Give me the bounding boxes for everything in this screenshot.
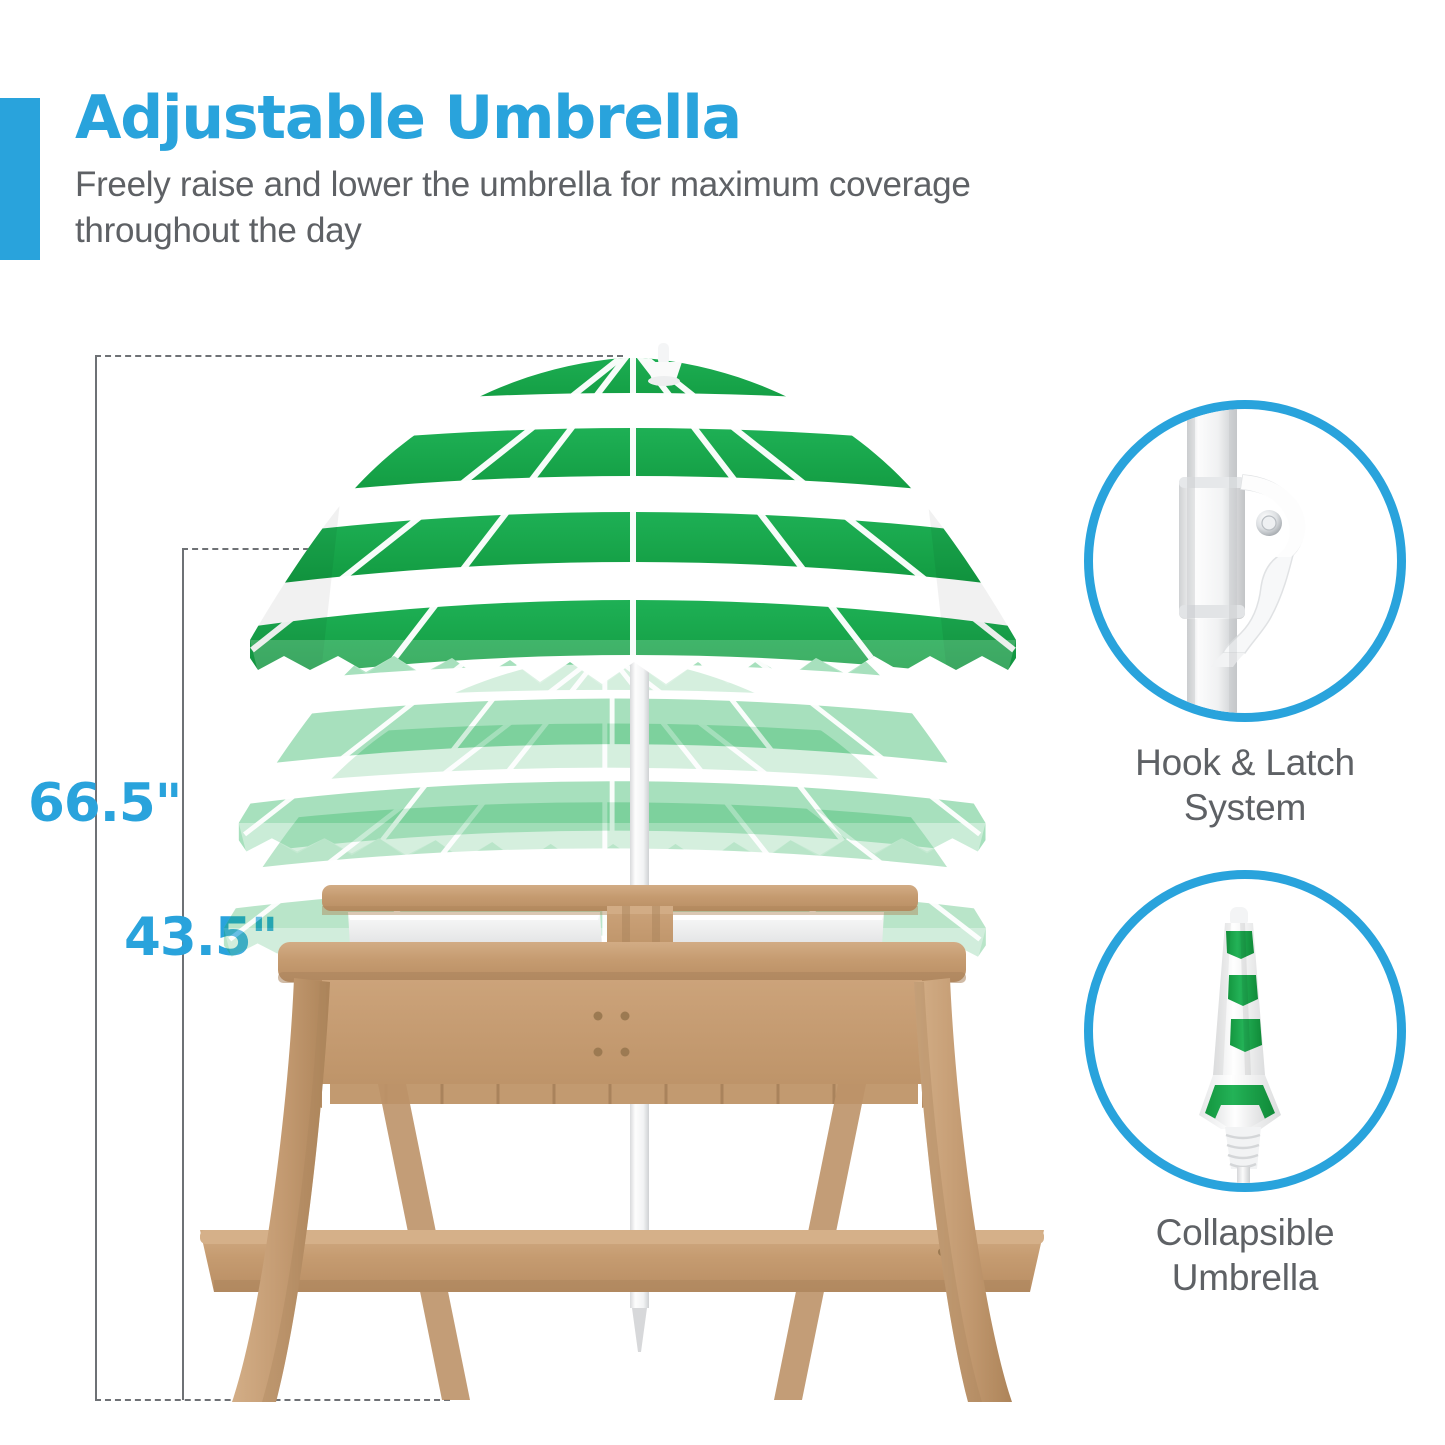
table-slat-row bbox=[330, 1084, 918, 1104]
product-illustration bbox=[170, 340, 1050, 1405]
table-top-board bbox=[278, 942, 966, 983]
page-title: Adjustable Umbrella bbox=[75, 88, 975, 148]
callout-collapsible-umbrella-label-line2: Umbrella bbox=[1070, 1255, 1420, 1300]
umbrella-tie-wrap bbox=[1225, 1127, 1261, 1169]
page-subtitle: Freely raise and lower the umbrella for … bbox=[75, 162, 975, 253]
closed-umbrella-icon bbox=[1093, 879, 1397, 1183]
furled-canopy-skirt bbox=[1199, 1075, 1281, 1129]
umbrella-canopy bbox=[228, 340, 1038, 700]
dimension-label-total-height: 66.5" bbox=[28, 773, 181, 834]
header-text-block: Adjustable Umbrella Freely raise and low… bbox=[75, 88, 975, 253]
callout-hook-latch: Hook & Latch System bbox=[1070, 400, 1420, 830]
umbrella-pole-latch-icon bbox=[1093, 409, 1397, 713]
dimension-line-total bbox=[95, 356, 97, 1400]
table-front-apron bbox=[318, 980, 926, 1084]
callout-hook-latch-label-line1: Hook & Latch bbox=[1070, 740, 1420, 785]
callout-hook-latch-label-line2: System bbox=[1070, 785, 1420, 830]
furled-canopy bbox=[1213, 923, 1265, 1075]
callout-collapsible-umbrella-label: Collapsible Umbrella bbox=[1070, 1210, 1420, 1300]
product-svg bbox=[170, 340, 1050, 1405]
callout-collapsible-umbrella: Collapsible Umbrella bbox=[1070, 870, 1420, 1300]
header-accent-bar bbox=[0, 98, 40, 260]
infographic-canvas: Adjustable Umbrella Freely raise and low… bbox=[0, 0, 1445, 1445]
callout-hook-latch-label: Hook & Latch System bbox=[1070, 740, 1420, 830]
callout-hook-latch-circle bbox=[1084, 400, 1406, 722]
picnic-table bbox=[200, 880, 1044, 1402]
callout-collapsible-umbrella-label-line1: Collapsible bbox=[1070, 1210, 1420, 1255]
callout-collapsible-umbrella-circle bbox=[1084, 870, 1406, 1192]
bench-seat-board bbox=[200, 1230, 1044, 1292]
umbrella-finial-icon bbox=[646, 343, 682, 386]
